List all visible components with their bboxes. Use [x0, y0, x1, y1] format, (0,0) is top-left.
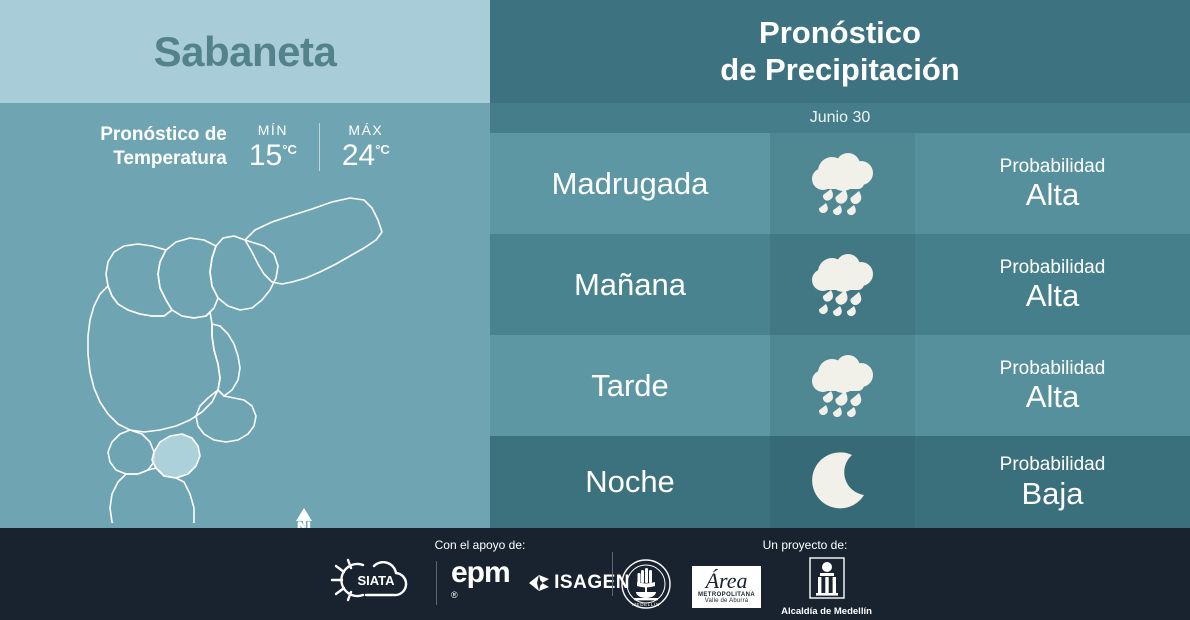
project-caption: Un proyecto de: [690, 538, 920, 552]
forecast-date: Junio 30 [810, 109, 871, 127]
probability-cell: Probabilidad Baja [915, 436, 1190, 528]
siata-label: SIATA [357, 573, 395, 588]
isagen-label: ISAGEN [554, 572, 630, 594]
probability-value: Alta [1000, 178, 1106, 212]
min-label: MÍN [249, 122, 297, 139]
rain-cloud-icon [770, 234, 915, 335]
city-header: Sabaneta [0, 0, 490, 103]
forecast-header: Pronóstico de Precipitación [490, 0, 1190, 103]
probability-caption: Probabilidad [1000, 256, 1106, 280]
alcaldia-crest-icon [808, 556, 846, 600]
udem-seal-logo[interactable]: MEDELLÍN [620, 558, 672, 615]
probability-caption: Probabilidad [1000, 453, 1106, 477]
footer: Con el apoyo de: SIATA [0, 528, 1190, 620]
period-cell: Tarde [490, 335, 770, 436]
forecast-date-strip: Junio 30 [490, 103, 1190, 133]
temperature-title-line1: Pronóstico de [100, 124, 227, 145]
period-cell: Noche [490, 436, 770, 528]
probability-caption: Probabilidad [1000, 155, 1106, 179]
rain-cloud-glyph [806, 151, 880, 217]
siata-glyph: SIATA [330, 557, 422, 603]
left-panel: Sabaneta Pronóstico de Temperatura MÍN 1… [0, 0, 490, 528]
forecast-row: Noche Probabilidad Baja [490, 436, 1190, 528]
support-caption: Con el apoyo de: [330, 538, 630, 552]
probability-cell: Probabilidad Alta [915, 234, 1190, 335]
rain-cloud-icon [770, 133, 915, 234]
area-label: Área [698, 570, 755, 592]
isagen-logo[interactable]: ISAGEN [528, 572, 630, 594]
min-value-wrap: 15°C [249, 139, 297, 172]
probability-cell: Probabilidad Alta [915, 133, 1190, 234]
rain-cloud-glyph [806, 252, 880, 318]
max-temperature: MÁX 24°C [342, 122, 390, 172]
weather-infographic: Sabaneta Pronóstico de Temperatura MÍN 1… [0, 0, 1190, 620]
probability-caption: Probabilidad [1000, 357, 1106, 381]
epm-registered: ® [451, 590, 458, 600]
temperature-divider [319, 123, 320, 171]
forecast-title-line2: de Precipitación [720, 52, 959, 87]
forecast-title: Pronóstico de Precipitación [720, 15, 959, 88]
temperature-title: Pronóstico de Temperatura [100, 123, 227, 171]
support-logo-row: SIATA epm ® ISAGEN [330, 556, 630, 609]
rain-cloud-icon [770, 335, 915, 436]
siata-logo[interactable]: SIATA [330, 557, 422, 608]
probability-value: Alta [1000, 279, 1106, 313]
period-label: Mañana [574, 267, 686, 303]
moon-glyph [812, 451, 874, 513]
forecast-row: Madrugada [490, 133, 1190, 234]
moon-icon [770, 436, 915, 528]
probability-value: Baja [1000, 477, 1106, 511]
epm-isagen-group: epm ® ISAGEN [451, 556, 630, 609]
temperature-title-line2: Temperatura [113, 148, 227, 169]
udem-seal-label: MEDELLÍN [632, 601, 660, 607]
probability-cell: Probabilidad Alta [915, 335, 1190, 436]
area-sub2: Valle de Aburrá [698, 598, 755, 604]
forecast-rows: Madrugada [490, 133, 1190, 528]
max-value-wrap: 24°C [342, 139, 390, 172]
footer-divider [436, 561, 437, 605]
project-logo-row: MEDELLÍN Área METROPOLITANA Valle de Abu… [620, 556, 920, 617]
forecast-title-line1: Pronóstico [759, 15, 921, 50]
probability-value: Alta [1000, 380, 1106, 414]
precipitation-panel: Pronóstico de Precipitación Junio 30 Mad… [490, 0, 1190, 528]
forecast-row: Mañana [490, 234, 1190, 335]
min-value: 15 [249, 139, 282, 172]
alcaldia-label: Alcaldía de Medellín [781, 606, 872, 617]
udem-seal-glyph: MEDELLÍN [620, 558, 672, 610]
max-label: MÁX [342, 122, 390, 139]
area-sub1: METROPOLITANA [698, 592, 755, 598]
page-title: Sabaneta [154, 28, 337, 76]
rain-cloud-glyph [806, 353, 880, 419]
isagen-mark-icon [528, 573, 550, 593]
aburra-valley-map: N [20, 178, 470, 523]
footer-divider [612, 552, 613, 596]
project-credits: Un proyecto de: [620, 538, 920, 617]
area-metropolitana-logo[interactable]: Área METROPOLITANA Valle de Aburrá [692, 566, 761, 608]
max-unit: °C [375, 142, 390, 157]
max-value: 24 [342, 139, 375, 172]
alcaldia-medellin-logo[interactable]: Alcaldía de Medellín [781, 556, 872, 617]
period-cell: Madrugada [490, 133, 770, 234]
min-unit: °C [282, 142, 297, 157]
epm-logo[interactable]: epm ® [451, 556, 516, 609]
support-credits: Con el apoyo de: SIATA [330, 538, 630, 609]
temperature-block: Pronóstico de Temperatura MÍN 15°C MÁX 2… [0, 112, 490, 182]
period-label: Noche [585, 464, 675, 500]
period-cell: Mañana [490, 234, 770, 335]
period-label: Madrugada [552, 166, 709, 202]
epm-label: epm [451, 556, 510, 589]
forecast-row: Tarde [490, 335, 1190, 436]
min-temperature: MÍN 15°C [249, 122, 297, 172]
period-label: Tarde [591, 368, 669, 404]
map-svg [20, 178, 470, 523]
